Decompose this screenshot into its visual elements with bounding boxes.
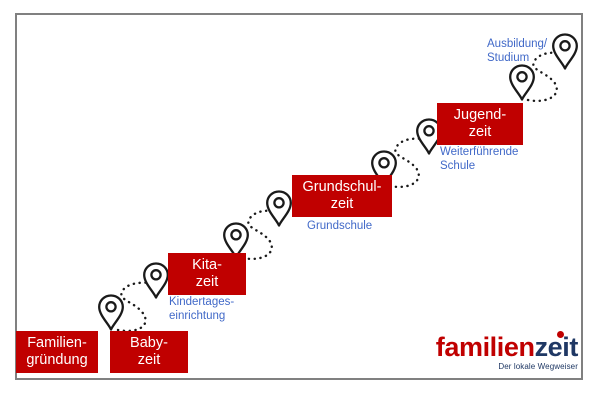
- logo-dot-icon: [557, 331, 564, 338]
- logo-word-zeit: zeit: [535, 332, 578, 362]
- infographic-canvas: Familien- gründung Baby- zeit Kita- zeit…: [0, 0, 600, 400]
- stage-box-jugendzeit[interactable]: Jugend- zeit: [437, 103, 523, 145]
- stage-label-line1: Jugend-: [454, 107, 506, 124]
- stage-box-babyzeit[interactable]: Baby- zeit: [110, 331, 188, 373]
- stage-label-line2: zeit: [331, 196, 354, 213]
- stage-label-line1: Kita-: [192, 257, 222, 274]
- stage-label-line1: Familien-: [27, 335, 87, 352]
- stage-label-line1: Grundschul-: [303, 179, 382, 196]
- stage-caption-kitazeit: Kindertages- einrichtung: [169, 296, 279, 323]
- stage-caption-ausbildung: Ausbildung/ Studium: [487, 38, 567, 65]
- stage-label-line1: Baby-: [130, 335, 168, 352]
- stage-box-grundschulzeit[interactable]: Grundschul- zeit: [292, 175, 392, 217]
- stage-box-familiengruendung[interactable]: Familien- gründung: [16, 331, 98, 373]
- stage-caption-jugendzeit: Weiterführende Schule: [440, 146, 560, 173]
- logo-tagline: Der lokale Wegweiser: [432, 362, 578, 372]
- stage-label-line2: zeit: [196, 274, 219, 291]
- stage-caption-grundschulzeit: Grundschule: [307, 220, 417, 234]
- stage-label-line2: gründung: [26, 352, 87, 369]
- logo-wordmark: familienzeit: [432, 333, 578, 361]
- stage-label-line2: zeit: [469, 124, 492, 141]
- logo-word-familien: familien: [436, 332, 535, 362]
- stage-box-kitazeit[interactable]: Kita- zeit: [168, 253, 246, 295]
- stage-label-line2: zeit: [138, 352, 161, 369]
- familienzeit-logo[interactable]: familienzeit Der lokale Wegweiser: [432, 333, 578, 372]
